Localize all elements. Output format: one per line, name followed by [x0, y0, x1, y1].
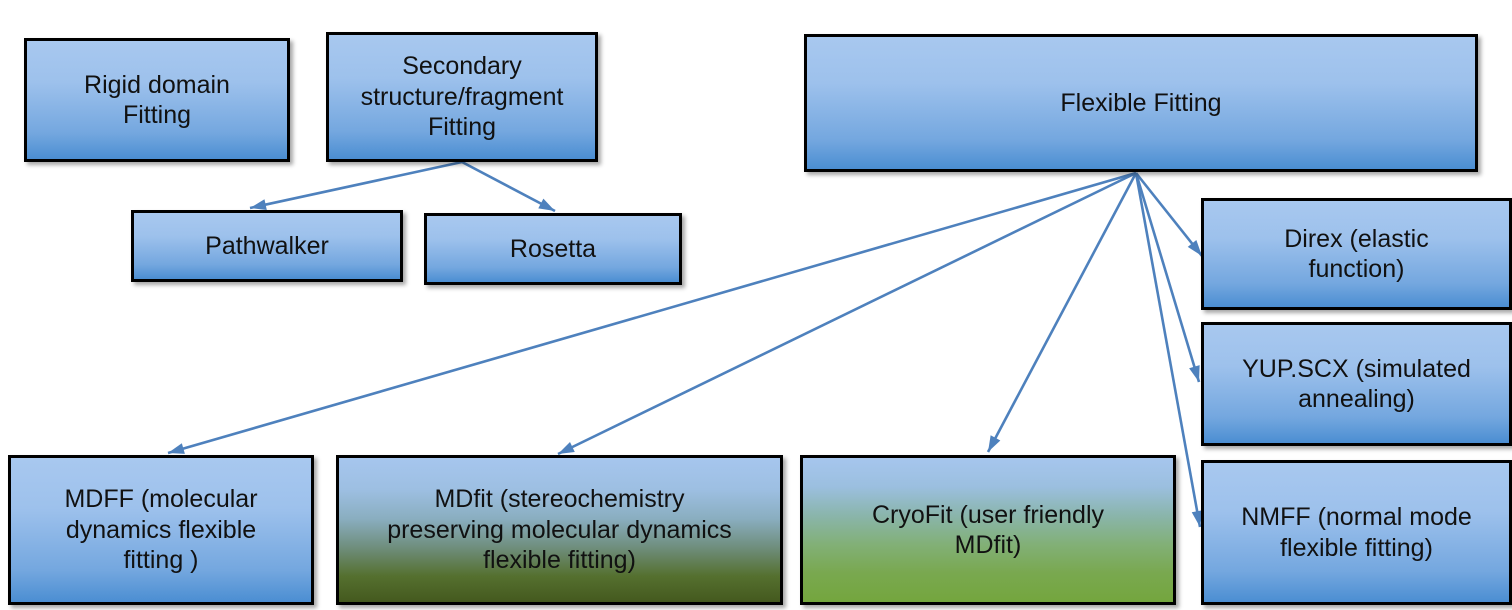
- node-yup-scx[interactable]: YUP.SCX (simulated annealing): [1201, 322, 1512, 446]
- node-label: Flexible Fitting: [815, 88, 1467, 119]
- diagram-canvas: Rigid domain FittingSecondary structure/…: [0, 0, 1512, 610]
- node-label: Rosetta: [435, 234, 671, 265]
- node-label: CryoFit (user friendly MDfit): [811, 500, 1165, 561]
- node-label: Pathwalker: [142, 231, 392, 262]
- node-label: YUP.SCX (simulated annealing): [1212, 354, 1501, 415]
- node-mdff[interactable]: MDFF (molecular dynamics flexible fittin…: [8, 455, 314, 605]
- node-secondary-structure-fragment-fitting[interactable]: Secondary structure/fragment Fitting: [326, 32, 598, 162]
- node-rigid-domain-fitting[interactable]: Rigid domain Fitting: [24, 38, 290, 162]
- node-label: MDFF (molecular dynamics flexible fittin…: [19, 484, 303, 576]
- edge-edge-flexible-to-yupscx: [1136, 173, 1200, 382]
- node-mdfit[interactable]: MDfit (stereochemistry preserving molecu…: [336, 455, 783, 605]
- node-label: Rigid domain Fitting: [35, 70, 279, 131]
- node-cryofit[interactable]: CryoFit (user friendly MDfit): [800, 455, 1176, 605]
- edge-edge-flexible-to-cryofit: [988, 173, 1136, 452]
- node-pathwalker[interactable]: Pathwalker: [131, 210, 403, 282]
- node-rosetta[interactable]: Rosetta: [424, 213, 682, 285]
- node-label: Direx (elastic function): [1212, 224, 1501, 285]
- node-nmff[interactable]: NMFF (normal mode flexible fitting): [1201, 460, 1512, 605]
- edge-edge-secondary-to-pathwalker: [250, 162, 462, 210]
- node-label: Secondary structure/fragment Fitting: [337, 51, 587, 143]
- node-label: NMFF (normal mode flexible fitting): [1212, 502, 1501, 563]
- edge-edge-flexible-to-direx: [1136, 173, 1202, 256]
- node-flexible-fitting[interactable]: Flexible Fitting: [804, 34, 1478, 172]
- node-direx[interactable]: Direx (elastic function): [1201, 198, 1512, 310]
- node-label: MDfit (stereochemistry preserving molecu…: [347, 484, 772, 576]
- edge-edge-secondary-to-rosetta: [462, 162, 555, 211]
